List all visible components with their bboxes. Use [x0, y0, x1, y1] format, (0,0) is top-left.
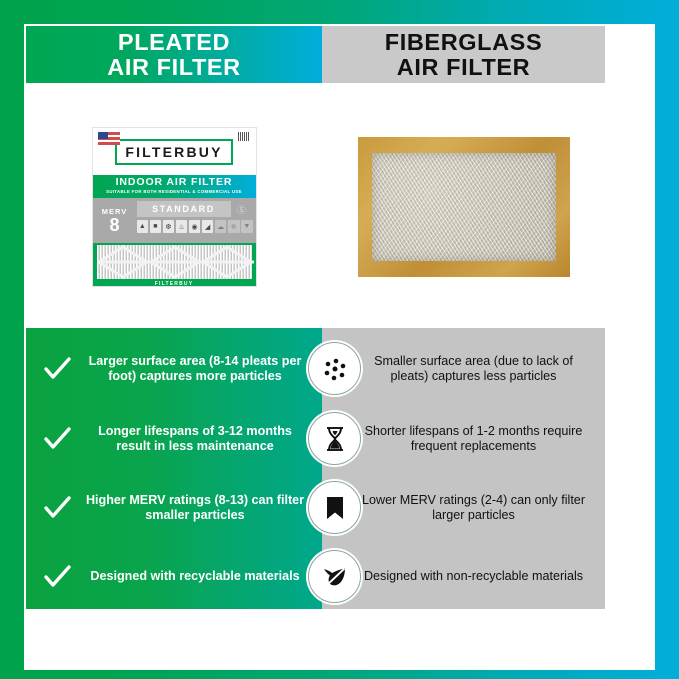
row-pleated-cell: Larger surface area (8-14 pleats per foo…: [26, 334, 322, 404]
header-pleated-line1: PLEATED: [107, 30, 241, 54]
pleats-diamond-pattern: [97, 245, 254, 279]
header-pleated-line2: AIR FILTER: [107, 55, 241, 79]
package-brand-box: FILTERBUY: [115, 139, 232, 165]
checkmark-icon: [42, 562, 72, 592]
checkmark-icon: [42, 493, 72, 523]
bacteria-icon: ◉: [189, 220, 201, 233]
hourglass-icon: [308, 412, 361, 465]
ul-certification-icon: Ⓢ: [231, 203, 253, 216]
leaf-icon: [308, 550, 361, 603]
row-pleated-text: Higher MERV ratings (8-13) can filter sm…: [82, 493, 308, 523]
package-brand: FILTERBUY: [125, 144, 222, 160]
comparison-rows: Larger surface area (8-14 pleats per foo…: [26, 328, 605, 609]
gradient-border-frame: PLEATED AIR FILTER FIBERGLASS AIR FILTER…: [0, 0, 679, 679]
pleated-product-cell: FILTERBUY INDOOR AIR FILTER SUITABLE FOR…: [26, 92, 322, 322]
odor-icon: ▼: [241, 220, 253, 233]
merv-badge: MERV 8: [93, 198, 137, 243]
smoke-icon: ◢: [202, 220, 214, 233]
row-fiberglass-text: Shorter lifespans of 1-2 months require …: [356, 424, 591, 454]
fiberglass-filter-image: [358, 137, 570, 277]
checkmark-icon: [42, 424, 72, 454]
checkmark-icon: [42, 354, 72, 384]
header-fiberglass-title: FIBERGLASS AIR FILTER: [385, 30, 542, 78]
row-pleated-cell: Higher MERV ratings (8-13) can filter sm…: [26, 473, 322, 543]
row-pleated-text: Larger surface area (8-14 pleats per foo…: [82, 354, 308, 384]
header-fiberglass: FIBERGLASS AIR FILTER: [322, 26, 605, 83]
package-grade-row: STANDARD Ⓢ: [137, 201, 253, 217]
row-fiberglass-cell: Smaller surface area (due to lack of ple…: [322, 334, 605, 404]
merv-value: 8: [109, 216, 119, 234]
fiberglass-media: [372, 153, 556, 261]
row-fiberglass-cell: Shorter lifespans of 1-2 months require …: [322, 404, 605, 474]
lint-icon: ■: [150, 220, 162, 233]
row-fiberglass-cell: Designed with non-recyclable materials: [322, 542, 605, 612]
virus-icon: ❊: [228, 220, 240, 233]
package-band-sub: SUITABLE FOR BOTH RESIDENTIAL & COMMERCI…: [93, 188, 256, 195]
row-fiberglass-text: Smaller surface area (due to lack of ple…: [356, 354, 591, 384]
package-top: FILTERBUY: [93, 128, 256, 175]
usa-flag-icon: [98, 132, 120, 145]
comparison-header: PLEATED AIR FILTER FIBERGLASS AIR FILTER: [26, 26, 605, 83]
package-footer-brand: FILTERBUY: [93, 281, 256, 287]
smog-icon: ☁: [215, 220, 227, 233]
header-pleated: PLEATED AIR FILTER: [26, 26, 322, 83]
row-pleated-text: Designed with recyclable materials: [82, 569, 308, 584]
package-band: INDOOR AIR FILTER SUITABLE FOR BOTH RESI…: [93, 175, 256, 198]
header-pleated-title: PLEATED AIR FILTER: [107, 30, 241, 78]
row-pleated-cell: Longer lifespans of 3-12 months result i…: [26, 404, 322, 474]
package-grade-area: STANDARD Ⓢ ▲ ■ ❆ ♨ ◉ ◢ ☁ ❊ ▼: [137, 198, 256, 243]
package-middle: MERV 8 STANDARD Ⓢ ▲ ■ ❆ ♨ ◉: [93, 198, 256, 243]
dust-icon: ▲: [137, 220, 149, 233]
package-grade: STANDARD: [137, 201, 231, 217]
row-fiberglass-text: Lower MERV ratings (2-4) can only filter…: [356, 493, 591, 523]
fiberglass-product-cell: [322, 92, 605, 322]
mold-icon: ♨: [176, 220, 188, 233]
header-fiberglass-line1: FIBERGLASS: [385, 30, 542, 54]
particles-icon: [308, 342, 361, 395]
package-pleats-window: FILTERBUY: [93, 243, 256, 287]
package-band-main: INDOOR AIR FILTER: [93, 177, 256, 188]
row-fiberglass-text: Designed with non-recyclable materials: [356, 569, 591, 584]
bookmark-icon: [308, 481, 361, 534]
package-feature-icons: ▲ ■ ❆ ♨ ◉ ◢ ☁ ❊ ▼: [137, 220, 253, 233]
product-images-row: FILTERBUY INDOOR AIR FILTER SUITABLE FOR…: [26, 92, 605, 322]
header-fiberglass-line2: AIR FILTER: [385, 55, 542, 79]
row-pleated-cell: Designed with recyclable materials: [26, 542, 322, 612]
pleated-filter-package: FILTERBUY INDOOR AIR FILTER SUITABLE FOR…: [92, 127, 257, 287]
row-pleated-text: Longer lifespans of 3-12 months result i…: [82, 424, 308, 454]
pollen-icon: ❆: [163, 220, 175, 233]
row-fiberglass-cell: Lower MERV ratings (2-4) can only filter…: [322, 473, 605, 543]
barcode-icon: [238, 132, 250, 141]
